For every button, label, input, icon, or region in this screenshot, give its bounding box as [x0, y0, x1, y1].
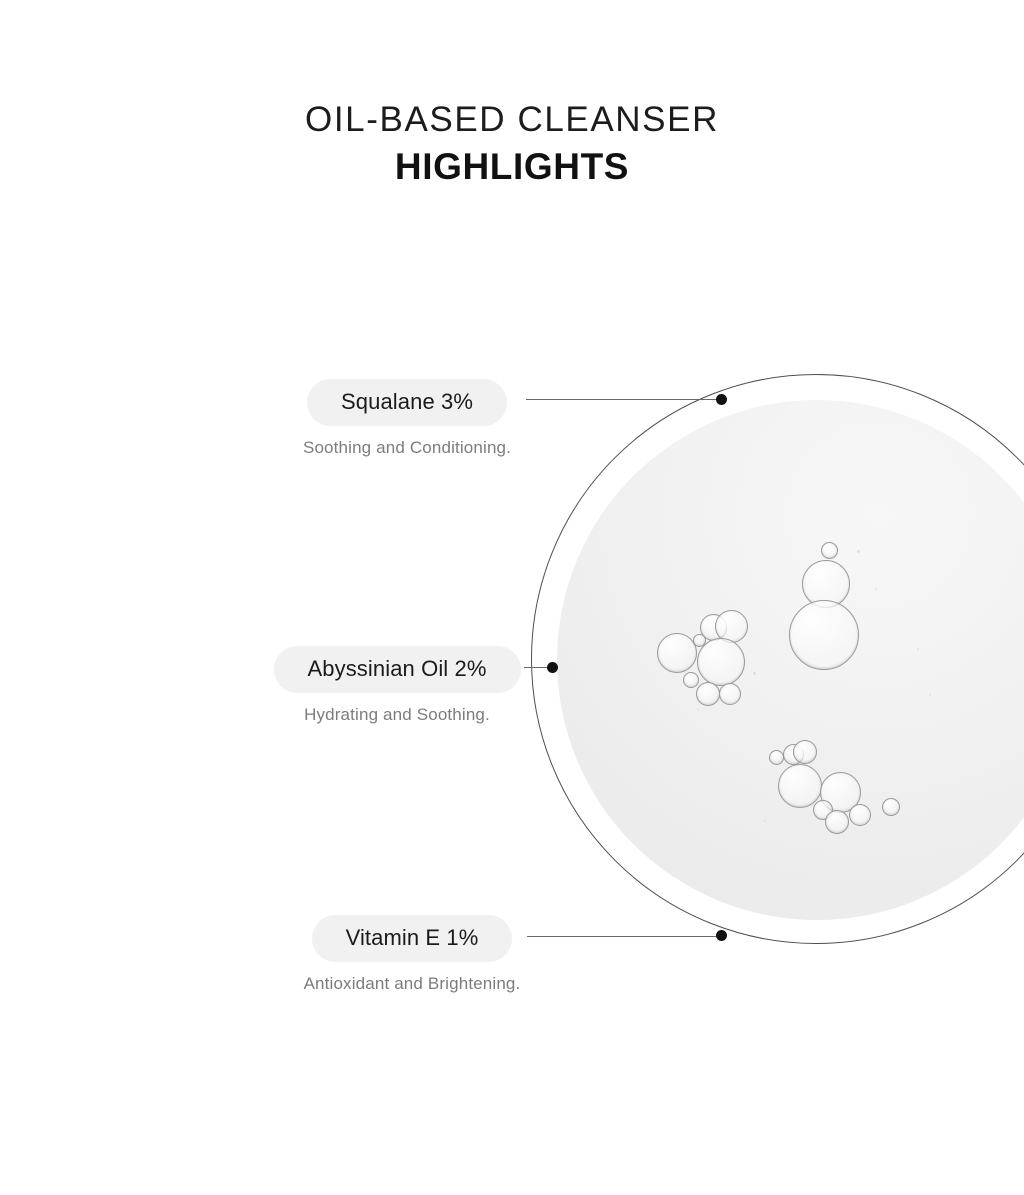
connector-line-vitamin-e — [527, 936, 723, 937]
node-dot-vitamin-e — [716, 930, 727, 941]
ingredient-description-abyssinian-oil: Hydrating and Soothing. — [262, 705, 532, 725]
title-primary: OIL-BASED CLEANSER — [0, 98, 1024, 142]
bubble — [882, 798, 900, 816]
ingredient-pill-squalane[interactable]: Squalane 3% — [307, 379, 507, 426]
bubble — [793, 740, 817, 764]
connector-line-squalane — [526, 399, 723, 400]
gel-speck — [929, 694, 931, 696]
bubble — [657, 633, 697, 673]
ingredient-pill-vitamin-e[interactable]: Vitamin E 1% — [312, 915, 513, 962]
bubble — [778, 764, 822, 808]
bubble — [683, 672, 699, 688]
gel-speck — [753, 672, 756, 675]
bubble — [769, 750, 784, 765]
gel-speck — [875, 588, 877, 590]
bubble — [789, 600, 859, 670]
title-secondary: HIGHLIGHTS — [0, 144, 1024, 190]
ingredient-pill-abyssinian-oil[interactable]: Abyssinian Oil 2% — [274, 646, 521, 693]
highlight-squalane: Squalane 3% Soothing and Conditioning. — [277, 379, 537, 458]
bubble — [697, 638, 745, 686]
gel-speck — [857, 550, 860, 553]
gel-speck — [697, 708, 699, 710]
bubble — [719, 683, 741, 705]
highlight-vitamin-e: Vitamin E 1% Antioxidant and Brightening… — [277, 915, 547, 994]
ingredient-description-squalane: Soothing and Conditioning. — [277, 438, 537, 458]
node-dot-abyssinian-oil — [547, 662, 558, 673]
gel-speck — [764, 820, 766, 822]
highlight-abyssinian-oil: Abyssinian Oil 2% Hydrating and Soothing… — [262, 646, 532, 725]
bubble — [696, 682, 720, 706]
ingredient-description-vitamin-e: Antioxidant and Brightening. — [277, 974, 547, 994]
product-texture-swatch — [531, 374, 1024, 946]
bubble — [821, 542, 838, 559]
bubble — [825, 810, 849, 834]
page-title: OIL-BASED CLEANSER HIGHLIGHTS — [0, 98, 1024, 190]
bubble — [849, 804, 871, 826]
gel-speck — [917, 648, 919, 650]
node-dot-squalane — [716, 394, 727, 405]
